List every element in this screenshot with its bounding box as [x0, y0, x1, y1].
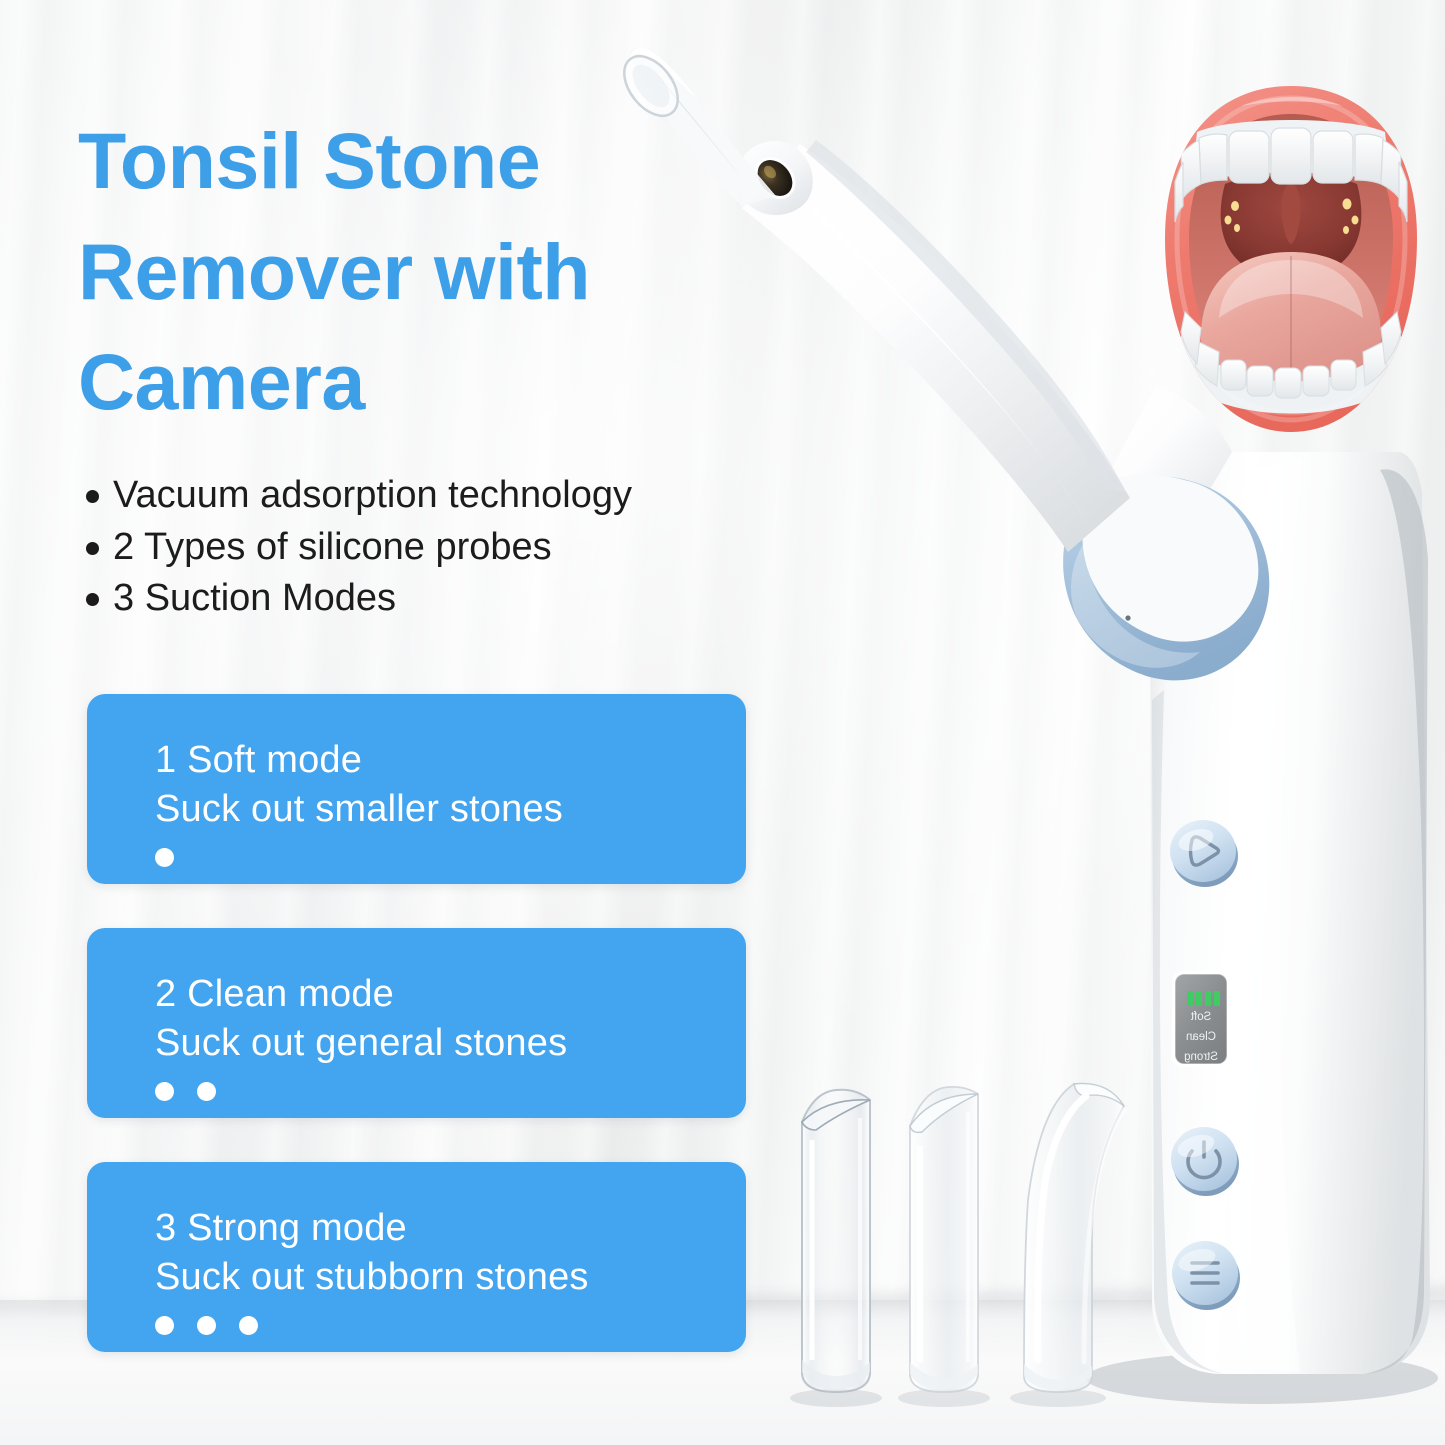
mode-card-title: 1 Soft mode — [155, 736, 746, 785]
feature-item: 2 Types of silicone probes — [86, 526, 786, 569]
bullet-dot-icon — [86, 593, 99, 606]
mode-strength-dots — [155, 1316, 746, 1335]
mode-card-title: 3 Strong mode — [155, 1204, 746, 1253]
feature-list: Vacuum adsorption technology 2 Types of … — [86, 474, 786, 629]
strength-dot — [197, 1316, 216, 1335]
strength-dot — [197, 1082, 216, 1101]
strength-dot — [155, 1082, 174, 1101]
mode-card-subtitle: Suck out smaller stones — [155, 785, 746, 834]
mode-strength-dots — [155, 1082, 746, 1101]
mode-card-clean: 2 Clean mode Suck out general stones — [87, 928, 746, 1118]
mode-card-soft: 1 Soft mode Suck out smaller stones — [87, 694, 746, 884]
mode-strength-dots — [155, 848, 746, 867]
feature-label: Vacuum adsorption technology — [113, 474, 632, 517]
feature-item: 3 Suction Modes — [86, 577, 786, 620]
product-infographic: Soft Clean Strong — [0, 0, 1445, 1445]
bullet-dot-icon — [86, 542, 99, 555]
page-title: Tonsil Stone Remover with Camera — [78, 106, 778, 438]
strength-dot — [155, 848, 174, 867]
mode-card-title: 2 Clean mode — [155, 970, 746, 1019]
suction-mode-cards: 1 Soft mode Suck out smaller stones 2 Cl… — [87, 694, 746, 1396]
mode-card-strong: 3 Strong mode Suck out stubborn stones — [87, 1162, 746, 1352]
mode-card-subtitle: Suck out general stones — [155, 1019, 746, 1068]
strength-dot — [155, 1316, 174, 1335]
mode-card-subtitle: Suck out stubborn stones — [155, 1253, 746, 1302]
open-mouth-illustration — [1155, 80, 1427, 440]
feature-label: 2 Types of silicone probes — [113, 526, 552, 569]
feature-label: 3 Suction Modes — [113, 577, 396, 620]
bullet-dot-icon — [86, 490, 99, 503]
strength-dot — [239, 1316, 258, 1335]
feature-item: Vacuum adsorption technology — [86, 474, 786, 517]
